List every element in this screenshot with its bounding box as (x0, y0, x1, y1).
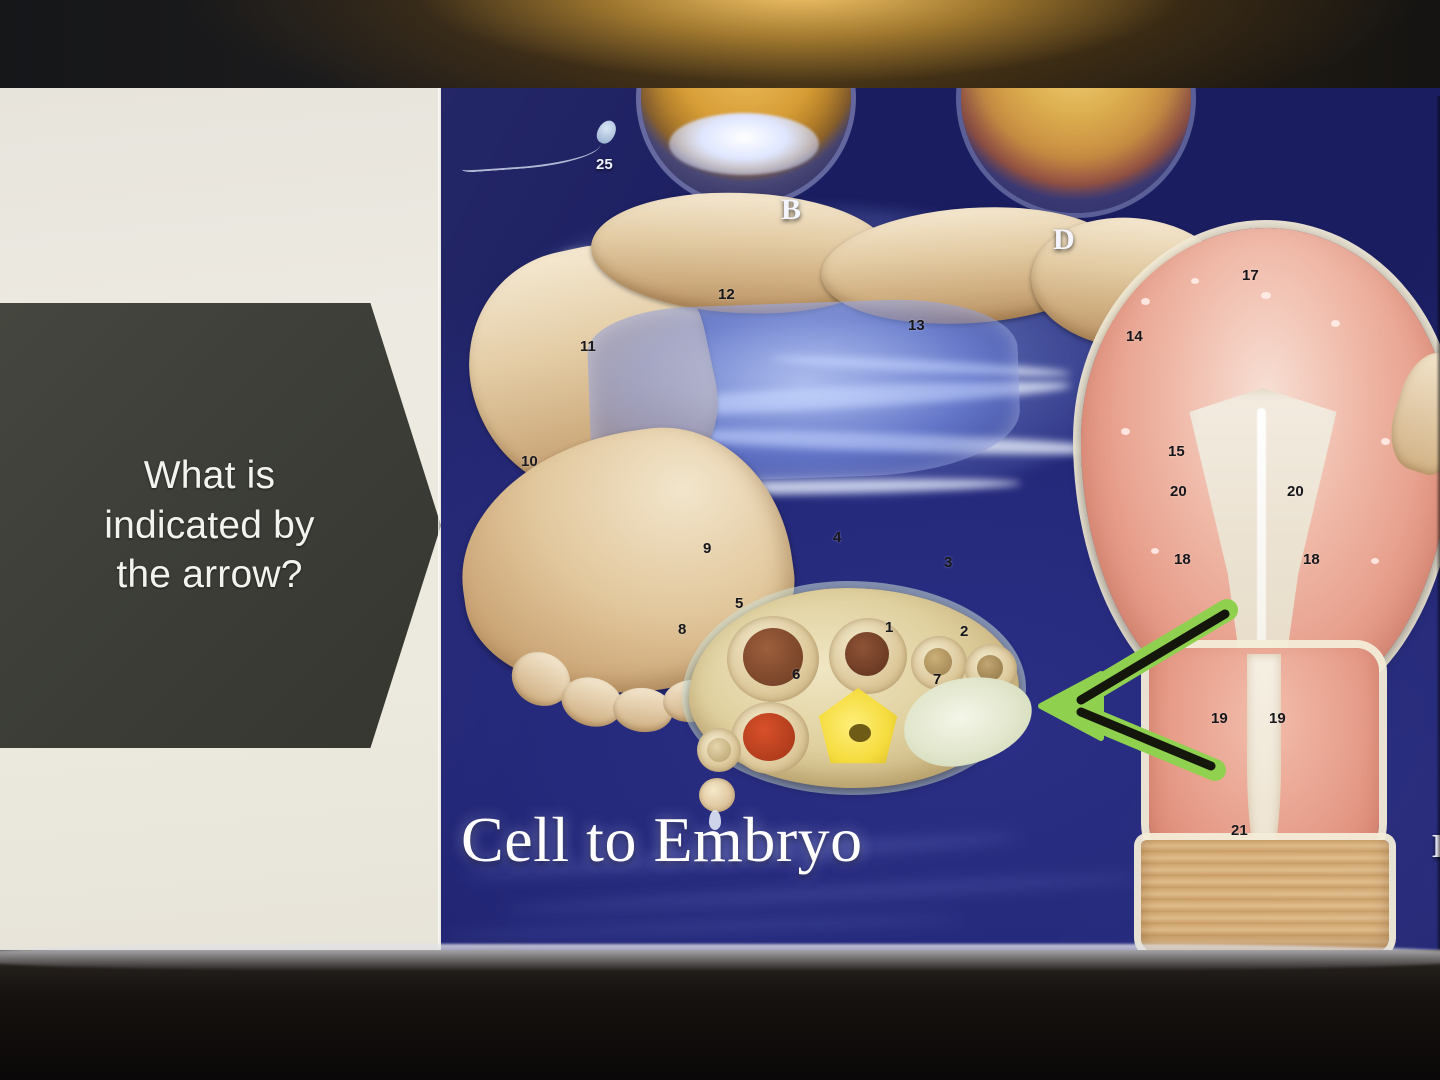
myometrium-speck (1151, 548, 1159, 554)
ovarian-follicle (697, 728, 741, 772)
myometrium-speck (1121, 428, 1130, 435)
green-pointer-arrow (1031, 588, 1291, 808)
label-25: 25 (596, 156, 613, 173)
label-14: 14 (1126, 328, 1143, 345)
label-20-right: 20 (1287, 483, 1304, 500)
label-12: 12 (718, 286, 735, 303)
myometrium-speck (1191, 278, 1199, 284)
label-18-right: 18 (1303, 551, 1320, 568)
ovarian-follicle (731, 702, 809, 774)
label-6: 6 (792, 666, 800, 683)
myometrium-speck (1381, 438, 1390, 445)
slide-title: Cell to Embryo (461, 803, 1101, 877)
label-8: 8 (678, 621, 686, 638)
label-b: B (781, 193, 801, 227)
follicle-core (743, 713, 795, 761)
label-20-left: 20 (1170, 483, 1187, 500)
question-callout-shape: What is indicated by the arrow? (0, 303, 441, 748)
label-1: 1 (885, 619, 893, 636)
screenshot-stage: What is indicated by the arrow? (0, 0, 1440, 1080)
myometrium-speck (1331, 320, 1340, 327)
monitor-bezel-top (0, 0, 1440, 100)
label-18-left: 18 (1174, 551, 1191, 568)
myometrium-speck (1261, 292, 1271, 299)
question-callout-text: What is indicated by the arrow? (60, 451, 360, 601)
myometrium-speck (1371, 558, 1379, 564)
question-line-2: indicated by (60, 501, 360, 551)
label-2: 2 (960, 623, 968, 640)
label-11: 11 (580, 338, 596, 355)
label-4: 4 (833, 529, 841, 546)
label-9: 9 (703, 540, 711, 557)
label-21: 21 (1231, 822, 1248, 839)
anatomy-figure-panel: 25 B D 12 13 11 10 14 17 15 20 20 18 18 … (441, 88, 1440, 998)
follicle-core (845, 632, 889, 676)
label-7: 7 (933, 671, 941, 688)
label-5: 5 (735, 595, 743, 612)
monitor-bezel-right (1436, 96, 1440, 980)
monitor-bezel-bottom (0, 950, 1440, 1080)
label-10: 10 (521, 453, 538, 470)
question-line-3: the arrow? (60, 550, 360, 600)
ovarian-follicle (829, 618, 907, 694)
label-d: D (1053, 223, 1075, 257)
myometrium-speck (1141, 298, 1150, 305)
label-13: 13 (908, 317, 925, 334)
label-15: 15 (1168, 443, 1185, 460)
follicle-core (707, 738, 731, 762)
label-3: 3 (944, 554, 952, 571)
vaginal-canal (1141, 840, 1389, 952)
slide-left-panel: What is indicated by the arrow? (0, 88, 441, 998)
question-line-1: What is (60, 451, 360, 501)
presentation-slide: What is indicated by the arrow? (0, 88, 1440, 998)
ovarian-follicle (727, 616, 819, 702)
label-17: 17 (1242, 267, 1259, 284)
